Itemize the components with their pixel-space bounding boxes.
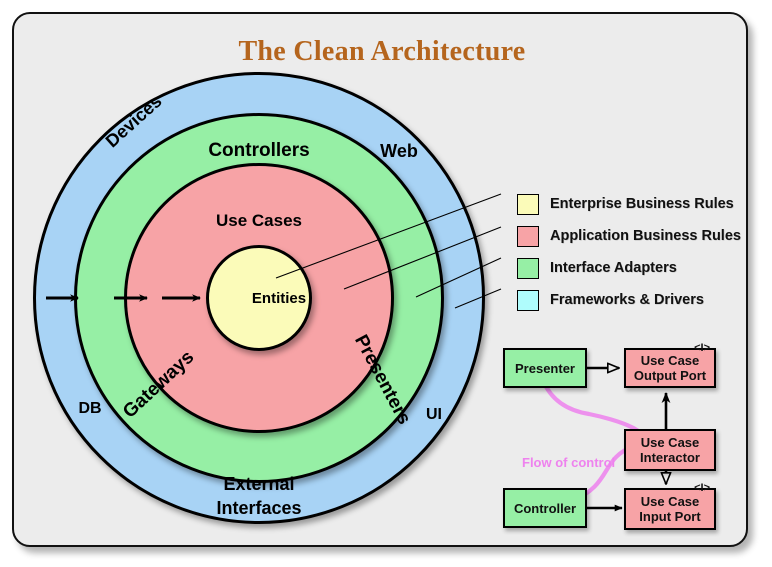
interface-marker-output-port: <I> xyxy=(694,341,710,356)
uml-box-use-case-interactor: Use Case Interactor xyxy=(624,429,716,471)
legend-label-enterprise: Enterprise Business Rules xyxy=(550,196,734,212)
uml-label-interactor-line2: Interactor xyxy=(640,450,700,465)
uml-label-presenter: Presenter xyxy=(515,361,575,376)
legend-item-interface-adapters: Interface Adapters xyxy=(517,254,748,282)
uml-box-use-case-output-port: <I> Use Case Output Port xyxy=(624,348,716,388)
interface-marker-input-port: <I> xyxy=(694,481,710,496)
legend-swatch-interface-adapters xyxy=(517,258,539,279)
uml-box-use-case-input-port: <I> Use Case Input Port xyxy=(624,488,716,530)
legend-label-frameworks: Frameworks & Drivers xyxy=(550,292,704,308)
legend-swatch-application xyxy=(517,226,539,247)
uml-label-output-port-line2: Output Port xyxy=(634,368,706,383)
flow-of-control-label: Flow of control xyxy=(522,455,615,470)
legend-label-application: Application Business Rules xyxy=(550,228,741,244)
legend-swatch-enterprise xyxy=(517,194,539,215)
legend-swatch-frameworks xyxy=(517,290,539,311)
uml-label-input-port-line2: Input Port xyxy=(639,509,700,524)
uml-box-presenter: Presenter xyxy=(503,348,587,388)
uml-label-output-port-line1: Use Case xyxy=(641,353,700,368)
uml-label-interactor-line1: Use Case xyxy=(641,435,700,450)
legend-label-interface-adapters: Interface Adapters xyxy=(550,260,677,276)
uml-label-input-port-line1: Use Case xyxy=(641,494,700,509)
legend-item-enterprise: Enterprise Business Rules xyxy=(517,190,748,218)
legend-item-frameworks: Frameworks & Drivers xyxy=(517,286,748,314)
legend-item-application: Application Business Rules xyxy=(517,222,748,250)
clean-architecture-diagram: The Clean Architecture Devices Web DB UI… xyxy=(0,0,772,567)
diagram-frame: The Clean Architecture Devices Web DB UI… xyxy=(12,12,748,547)
uml-label-controller: Controller xyxy=(514,501,576,516)
legend: Enterprise Business Rules Application Bu… xyxy=(517,190,748,318)
uml-box-controller: Controller xyxy=(503,488,587,528)
